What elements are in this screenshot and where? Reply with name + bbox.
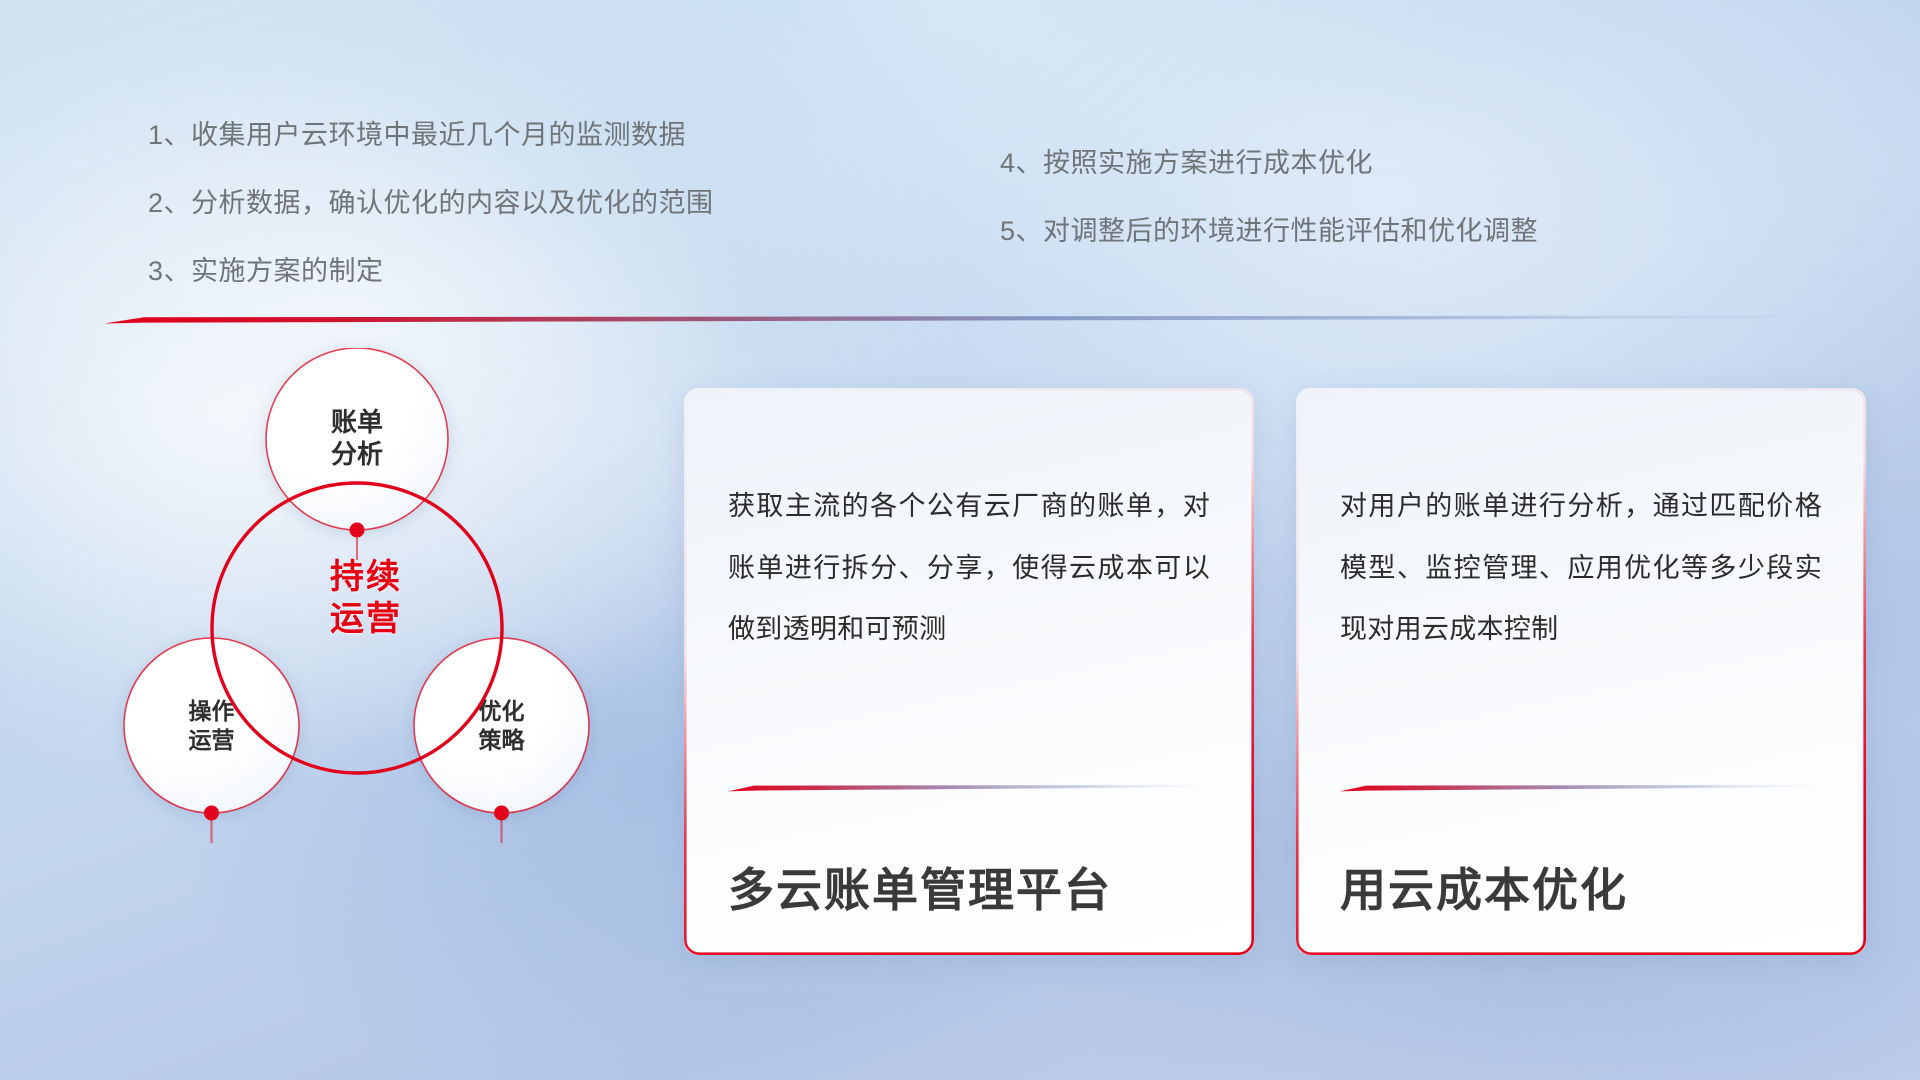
step-item-3: 3、实施方案的制定	[148, 258, 714, 285]
node-dot-right	[494, 806, 509, 821]
slide-root: 1、收集用户云环境中最近几个月的监测数据 2、分析数据，确认优化的内容以及优化的…	[0, 0, 1920, 1080]
steps-right-column: 4、按照实施方案进行成本优化 5、对调整后的环境进行性能评估和优化调整	[1000, 150, 1538, 245]
card-accent-rule	[728, 780, 1210, 789]
bubble-outline-left	[124, 638, 299, 813]
card-multi-cloud-bill-platform[interactable]: 获取主流的各个公有云厂商的账单，对账单进行拆分、分享，使得云成本可以做到透明和可…	[684, 388, 1254, 955]
card-rule-graphic	[728, 784, 1210, 793]
card-title: 用云成本优化	[1340, 854, 1836, 920]
steps-left-column: 1、收集用户云环境中最近几个月的监测数据 2、分析数据，确认优化的内容以及优化的…	[148, 122, 714, 285]
step-item-4: 4、按照实施方案进行成本优化	[1000, 150, 1538, 177]
center-label-line2: 运营	[295, 598, 437, 640]
bubble-outline-top	[266, 348, 448, 530]
card-accent-rule	[1340, 780, 1822, 789]
center-label-line1: 持续	[295, 556, 437, 598]
step-item-1: 1、收集用户云环境中最近几个月的监测数据	[148, 122, 714, 149]
divider-graphic	[104, 314, 1894, 326]
card-rule-graphic	[1340, 784, 1822, 793]
card-title: 多云账单管理平台	[728, 854, 1224, 920]
section-divider	[104, 313, 1894, 325]
node-dot-left	[204, 806, 219, 821]
node-dot-top	[350, 523, 365, 538]
diagram-center-label: 持续 运营	[295, 556, 437, 640]
step-item-2: 2、分析数据，确认优化的内容以及优化的范围	[148, 190, 714, 217]
card-body-text: 对用户的账单进行分析，通过匹配价格模型、监控管理、应用优化等多少段实现对用云成本…	[1340, 476, 1822, 661]
diagram-rings	[96, 348, 666, 958]
card-body-text: 获取主流的各个公有云厂商的账单，对账单进行拆分、分享，使得云成本可以做到透明和可…	[728, 476, 1210, 661]
bubble-outline-right	[414, 638, 589, 813]
continuous-operation-diagram: 账单 分析 操作 运营 优化 策略 持续 运营	[96, 348, 666, 958]
card-cloud-cost-optimization[interactable]: 对用户的账单进行分析，通过匹配价格模型、监控管理、应用优化等多少段实现对用云成本…	[1296, 388, 1866, 955]
step-item-5: 5、对调整后的环境进行性能评估和优化调整	[1000, 218, 1538, 245]
